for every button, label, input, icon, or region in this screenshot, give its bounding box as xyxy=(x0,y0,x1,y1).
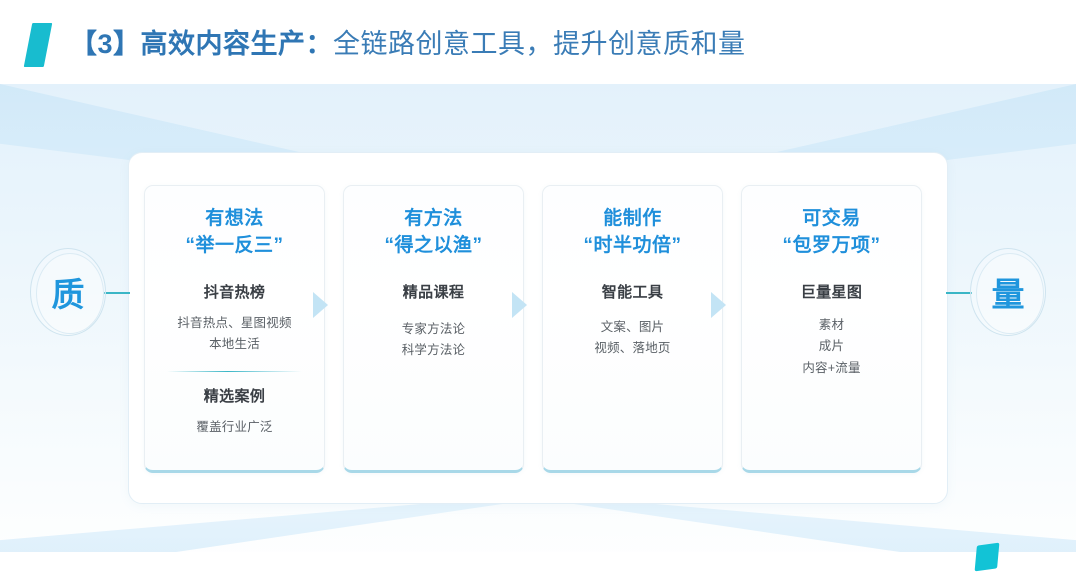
connector-line-right xyxy=(946,292,972,294)
flow-card-4-section-1-line-3: 内容+流量 xyxy=(752,358,911,380)
flow-card-2-section-1-line-2: 科学方法论 xyxy=(354,340,513,362)
title-accent-parallelogram-icon xyxy=(24,23,53,67)
flow-card-1-title-line1: 有想法 xyxy=(205,208,264,229)
flow-card-3-section-1-line-1: 文案、图片 xyxy=(553,317,712,339)
flow-card-3-title-line1: 能制作 xyxy=(603,208,662,229)
flow-card-1[interactable]: 有想法 “举一反三” 抖音热榜 抖音热点、星图视频 本地生活 精选案例 覆盖行业… xyxy=(144,185,325,473)
slide-canvas: 【3】高效内容生产：全链路创意工具，提升创意质和量 质 量 有想法 “举一反三”… xyxy=(0,0,1076,578)
flow-card-2-section-1-body: 专家方法论 科学方法论 xyxy=(354,319,513,362)
footer-accent-parallelogram-icon xyxy=(975,543,1000,572)
flow-card-1-section-1-body: 抖音热点、星图视频 本地生活 xyxy=(155,313,314,356)
background-footer-band xyxy=(0,552,1076,578)
connector-line-left xyxy=(104,292,130,294)
slide-title-row: 【3】高效内容生产：全链路创意工具，提升创意质和量 xyxy=(0,18,1076,72)
flow-card-4-section-1-line-1: 素材 xyxy=(752,315,911,337)
flow-card-3-section-1-heading: 智能工具 xyxy=(553,281,712,302)
arrow-right-icon-3 xyxy=(711,292,727,318)
flow-card-4-title-line1: 可交易 xyxy=(802,208,861,229)
flow-card-2[interactable]: 有方法 “得之以渔” 精品课程 专家方法论 科学方法论 xyxy=(343,185,524,473)
flow-card-list: 有想法 “举一反三” 抖音热榜 抖音热点、星图视频 本地生活 精选案例 覆盖行业… xyxy=(144,185,932,473)
flow-card-1-section-1-line-2: 本地生活 xyxy=(155,334,314,356)
flow-endpoint-quality: 质 xyxy=(30,248,106,336)
flow-card-4-section-1-heading: 巨量星图 xyxy=(752,281,911,302)
flow-card-2-section-1-line-1: 专家方法论 xyxy=(354,319,513,341)
page-title: 【3】高效内容生产：全链路创意工具，提升创意质和量 xyxy=(70,30,746,60)
flow-card-3-title: 能制作 “时半功倍” xyxy=(553,206,712,260)
flow-card-2-title-line1: 有方法 xyxy=(404,208,463,229)
flow-card-3-title-line2: “时半功倍” xyxy=(553,233,712,260)
flow-endpoint-quantity: 量 xyxy=(970,248,1046,336)
flow-card-1-section-1-heading: 抖音热榜 xyxy=(155,281,314,302)
page-title-prefix: 【3】高效内容生产： xyxy=(70,29,333,59)
arrow-right-icon-1 xyxy=(313,292,329,318)
flow-card-1-section-1-line-1: 抖音热点、星图视频 xyxy=(155,313,314,335)
flow-card-2-title-line2: “得之以渔” xyxy=(354,233,513,260)
flow-card-3-section-1-line-2: 视频、落地页 xyxy=(553,338,712,360)
flow-card-1-section-2-heading: 精选案例 xyxy=(155,385,314,406)
flow-card-4-title: 可交易 “包罗万项” xyxy=(752,206,911,260)
flow-card-2-section-1-heading: 精品课程 xyxy=(354,281,513,302)
flow-card-1-divider xyxy=(167,371,302,373)
flow-card-1-section-2-body: 覆盖行业广泛 xyxy=(155,417,314,439)
flow-card-4-section-1-line-2: 成片 xyxy=(752,336,911,358)
flow-card-2-title: 有方法 “得之以渔” xyxy=(354,206,513,260)
flow-card-3-section-1-body: 文案、图片 视频、落地页 xyxy=(553,317,712,360)
flow-card-4[interactable]: 可交易 “包罗万项” 巨量星图 素材 成片 内容+流量 xyxy=(741,185,922,473)
page-title-suffix: 全链路创意工具，提升创意质和量 xyxy=(333,29,746,59)
flow-card-4-title-line2: “包罗万项” xyxy=(752,233,911,260)
flow-left-label: 质 xyxy=(30,248,106,336)
flow-card-3[interactable]: 能制作 “时半功倍” 智能工具 文案、图片 视频、落地页 xyxy=(542,185,723,473)
flow-card-1-section-2-line-1: 覆盖行业广泛 xyxy=(155,417,314,439)
flow-card-1-title-line2: “举一反三” xyxy=(155,233,314,260)
flow-right-label: 量 xyxy=(970,248,1046,336)
arrow-right-icon-2 xyxy=(512,292,528,318)
flow-card-1-title: 有想法 “举一反三” xyxy=(155,206,314,260)
flow-card-4-section-1-body: 素材 成片 内容+流量 xyxy=(752,315,911,380)
